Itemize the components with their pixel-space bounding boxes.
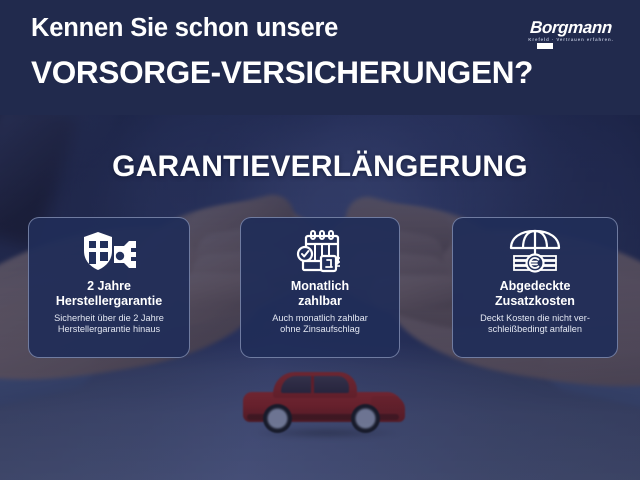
card-title: 2 Jahre Herstellergarantie — [56, 279, 162, 309]
feature-card-monatlich-zahlbar[interactable]: Monatlich zahlbar Auch monatlich zahlbar… — [240, 217, 400, 358]
umbrella-coins-euro-icon — [504, 228, 566, 276]
card-title: Abgedeckte Zusatzkosten — [495, 279, 575, 309]
borgmann-logo[interactable]: Borgmann Krefeld · Vertrauen erfahren. — [516, 19, 626, 49]
feature-card-herstellergarantie[interactable]: 2 Jahre Herstellergarantie Sicherheit üb… — [28, 217, 190, 358]
card-subtitle: Auch monatlich zahlbar ohne Zinsaufschla… — [272, 313, 368, 337]
logo-accent-bar — [537, 43, 553, 49]
header-band: Kennen Sie schon unsere VORSORGE-VERSICH… — [0, 0, 640, 115]
card-title: Monatlich zahlbar — [291, 279, 349, 309]
shield-car-icon — [80, 228, 138, 276]
feature-card-zusatzkosten[interactable]: Abgedeckte Zusatzkosten Deckt Kosten die… — [452, 217, 618, 358]
section-title: GARANTIEVERLÄNGERUNG — [0, 152, 640, 182]
calendar-money-icon — [294, 228, 346, 276]
logo-tagline: Krefeld · Vertrauen erfahren. — [516, 38, 626, 42]
headline-secondary: VORSORGE-VERSICHERUNGEN? — [31, 57, 533, 89]
headline-primary: Kennen Sie schon unsere — [31, 16, 338, 42]
feature-card-list: 2 Jahre Herstellergarantie Sicherheit üb… — [0, 217, 640, 358]
card-subtitle: Deckt Kosten die nicht ver- schleißbedin… — [480, 313, 590, 337]
card-subtitle: Sicherheit über die 2 Jahre Herstellerga… — [54, 313, 164, 337]
promo-banner: GARANTIEVERLÄNGERUNG Kennen Sie schon un… — [0, 0, 640, 480]
logo-wordmark: Borgmann — [515, 19, 626, 36]
